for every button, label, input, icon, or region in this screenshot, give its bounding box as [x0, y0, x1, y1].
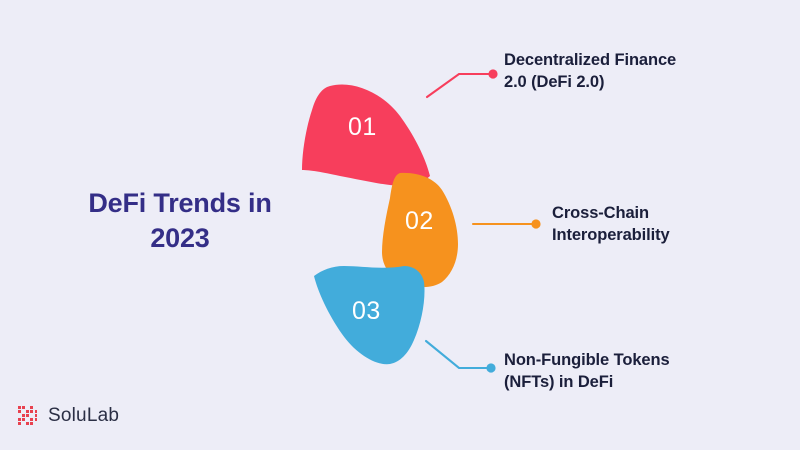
segment-number-02: 02 [405, 207, 434, 236]
callout-02-line-2: Interoperability [552, 225, 792, 247]
brand-logo[interactable]: SoluLab [18, 405, 119, 427]
callout-label-02: Cross-Chain Interoperability [552, 203, 792, 247]
infographic-canvas: DeFi Trends in 2023 01 02 03 Decentraliz… [0, 0, 800, 450]
callout-01-line-1: Decentralized Finance [504, 50, 754, 72]
solulab-mark-icon [18, 405, 40, 427]
connector-dot-02 [531, 219, 540, 228]
callout-label-01: Decentralized Finance 2.0 (DeFi 2.0) [504, 50, 754, 94]
callout-03-line-1: Non-Fungible Tokens [504, 350, 754, 372]
callout-01-line-2: 2.0 (DeFi 2.0) [504, 72, 754, 94]
connector-line-03 [426, 341, 489, 368]
connector-dot-03 [486, 363, 495, 372]
logo-text: SoluLab [48, 405, 119, 427]
segment-number-03: 03 [352, 297, 381, 326]
callout-03-line-2: (NFTs) in DeFi [504, 372, 754, 394]
connector-line-01 [427, 74, 491, 97]
callout-02-line-1: Cross-Chain [552, 203, 792, 225]
connector-dot-01 [488, 69, 497, 78]
callout-label-03: Non-Fungible Tokens (NFTs) in DeFi [504, 350, 754, 394]
segment-number-01: 01 [348, 113, 377, 142]
